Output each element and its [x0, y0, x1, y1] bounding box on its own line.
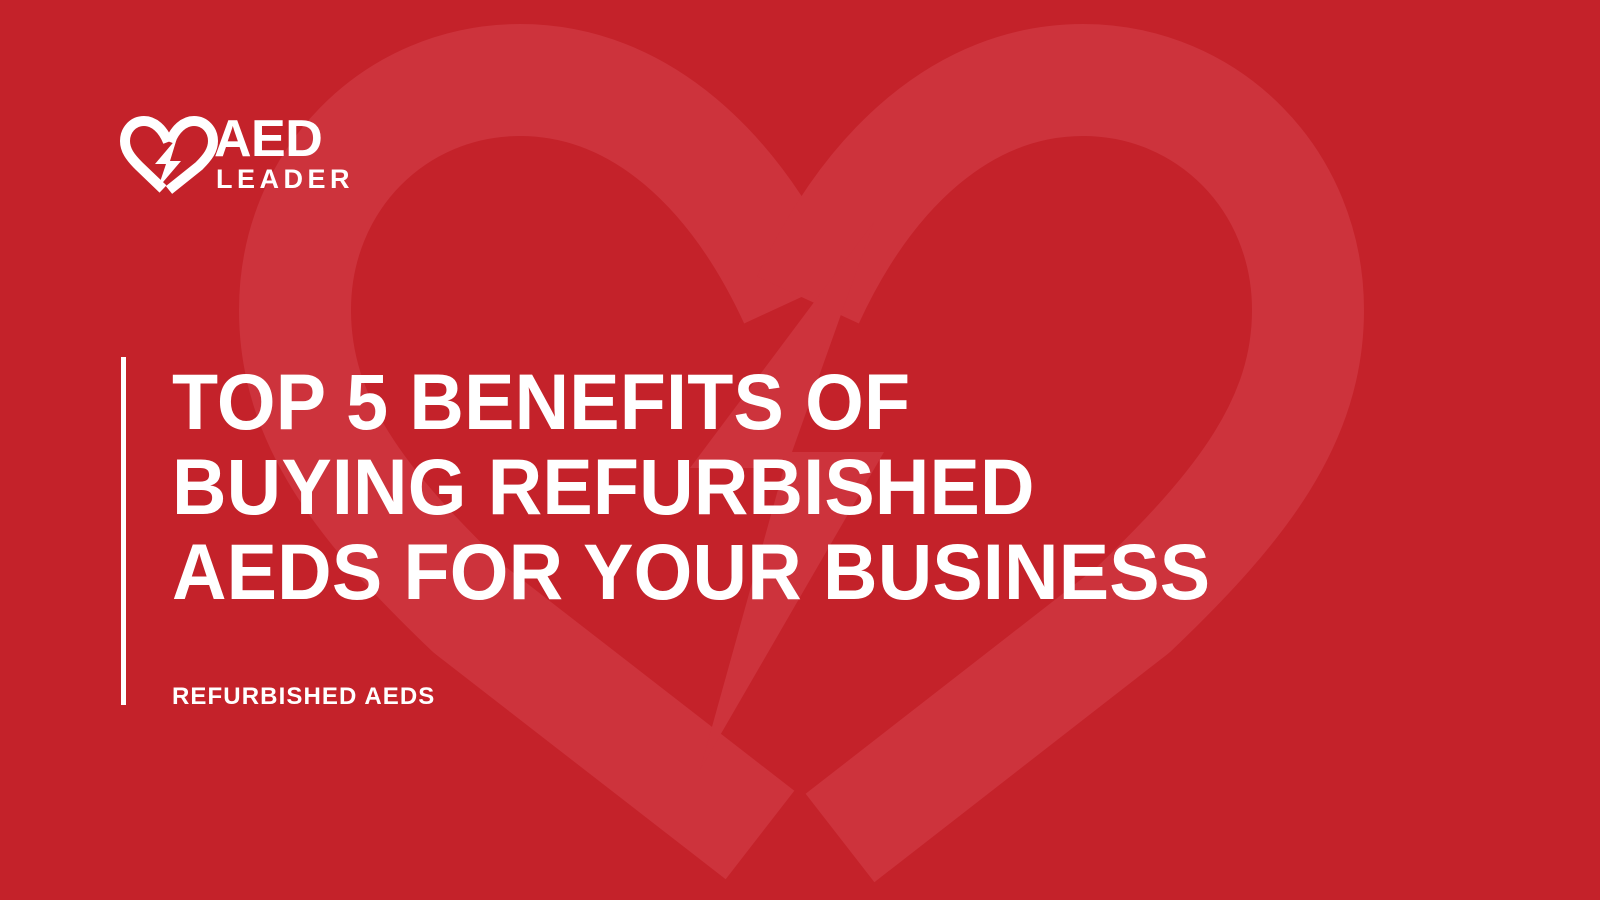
- hero-banner: AED LEADER Top 5 Benefits of Buying Refu…: [0, 0, 1600, 900]
- category-label: Refurbished AEDs: [172, 684, 1261, 710]
- site-logo[interactable]: AED LEADER: [120, 112, 354, 200]
- logo-secondary-text: LEADER: [216, 165, 354, 193]
- hero-text-inner: Top 5 Benefits of Buying Refurbished AED…: [172, 357, 1261, 710]
- accent-rule: [121, 357, 126, 705]
- heart-lightning-bolt-icon: [120, 116, 218, 200]
- page-title: Top 5 Benefits of Buying Refurbished AED…: [172, 359, 1212, 614]
- hero-text-block: Top 5 Benefits of Buying Refurbished AED…: [121, 357, 1261, 710]
- logo-primary-text: AED: [214, 114, 354, 164]
- logo-wordmark: AED LEADER: [214, 112, 354, 193]
